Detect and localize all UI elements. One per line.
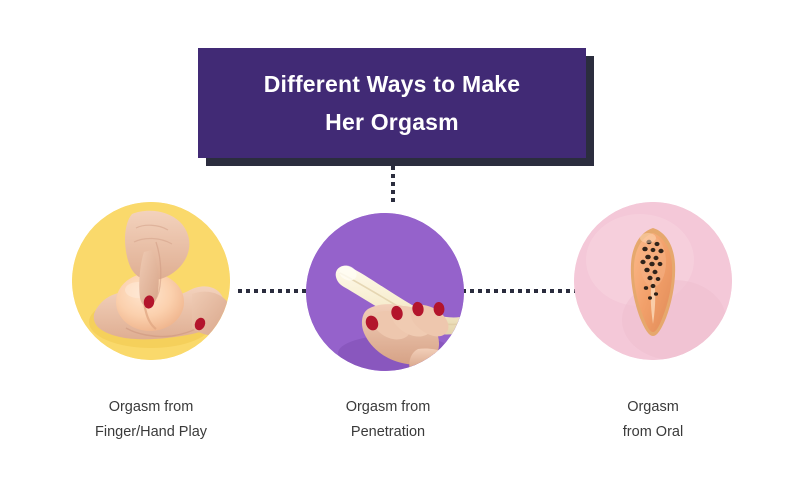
title-line-1: Different Ways to Make [264,65,521,103]
caption-oral: Orgasm from Oral [543,395,763,445]
infographic-canvas: Different Ways to Make Her Orgasm [0,0,800,500]
node-circle-oral [574,202,732,360]
node-circle-penetration [306,213,464,371]
caption-penetration: Orgasm from Penetration [278,395,498,445]
halved-papaya-photo [574,202,732,360]
title-banner: Different Ways to Make Her Orgasm [198,48,586,158]
node-circle-finger [72,202,230,360]
title-line-2: Her Orgasm [325,103,459,141]
banner-to-penetration-connector [391,166,395,202]
hands-holding-peach-photo [72,202,230,360]
penetration-to-oral-connector [462,289,580,293]
caption-penetration-line-2: Penetration [278,420,498,445]
caption-finger-line-2: Finger/Hand Play [41,420,261,445]
caption-oral-line-1: Orgasm [543,395,763,420]
caption-finger-line-1: Orgasm from [41,395,261,420]
finger-to-penetration-connector [238,289,310,293]
caption-penetration-line-1: Orgasm from [278,395,498,420]
caption-oral-line-2: from Oral [543,420,763,445]
hand-holding-banana-photo [306,213,464,371]
caption-finger: Orgasm from Finger/Hand Play [41,395,261,445]
